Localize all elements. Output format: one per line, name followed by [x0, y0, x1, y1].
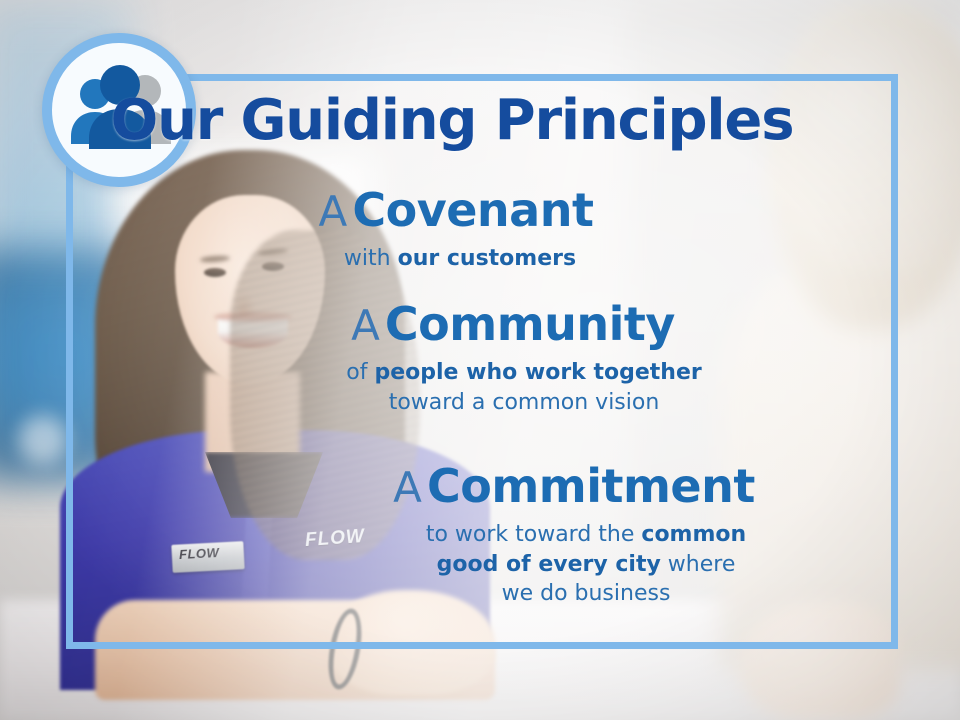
emphasis-text: good of every city [437, 552, 661, 577]
principle-heading: A Covenant [0, 186, 960, 234]
principle-subtext-line: to work toward the common [212, 520, 960, 549]
principle-heading: A Commitment [0, 462, 960, 510]
plain-text: with [344, 246, 398, 271]
principle-subtext: of people who work togethertoward a comm… [0, 358, 960, 417]
plain-text: of [346, 360, 374, 385]
guiding-principles-graphic: FLOW FLOW Our Guiding Principles [0, 0, 960, 720]
principle-subtext-line: of people who work together [88, 358, 960, 387]
principle-article: A [351, 301, 380, 350]
emphasis-text: people who work together [374, 360, 701, 385]
principle-covenant: A Covenant with our customers [0, 186, 960, 274]
page-title: Our Guiding Principles [0, 93, 904, 149]
principles-content: Our Guiding Principles A Covenant with o… [0, 0, 960, 720]
plain-text: we do business [502, 581, 671, 606]
plain-text: to work toward the [426, 522, 642, 547]
principle-subtext: with our customers [0, 244, 960, 273]
principle-subtext-line: toward a common vision [88, 388, 960, 417]
emphasis-text: common [641, 522, 746, 547]
principle-keyword: Commitment [427, 459, 755, 513]
emphasis-text: our customers [398, 246, 577, 271]
principle-subtext-line: good of every city where [212, 550, 960, 579]
plain-text: where [661, 552, 736, 577]
principle-article: A [393, 463, 422, 512]
principle-subtext-line: we do business [212, 579, 960, 608]
principle-heading: A Community [0, 300, 960, 348]
principle-article: A [319, 187, 348, 236]
principle-subtext-line: with our customers [0, 244, 920, 273]
principle-keyword: Community [385, 297, 675, 351]
plain-text: toward a common vision [389, 390, 660, 415]
principle-community: A Community of people who work togethert… [0, 300, 960, 417]
principle-subtext: to work toward the commongood of every c… [0, 520, 960, 608]
principle-commitment: A Commitment to work toward the commongo… [0, 462, 960, 608]
principle-keyword: Covenant [352, 183, 593, 237]
